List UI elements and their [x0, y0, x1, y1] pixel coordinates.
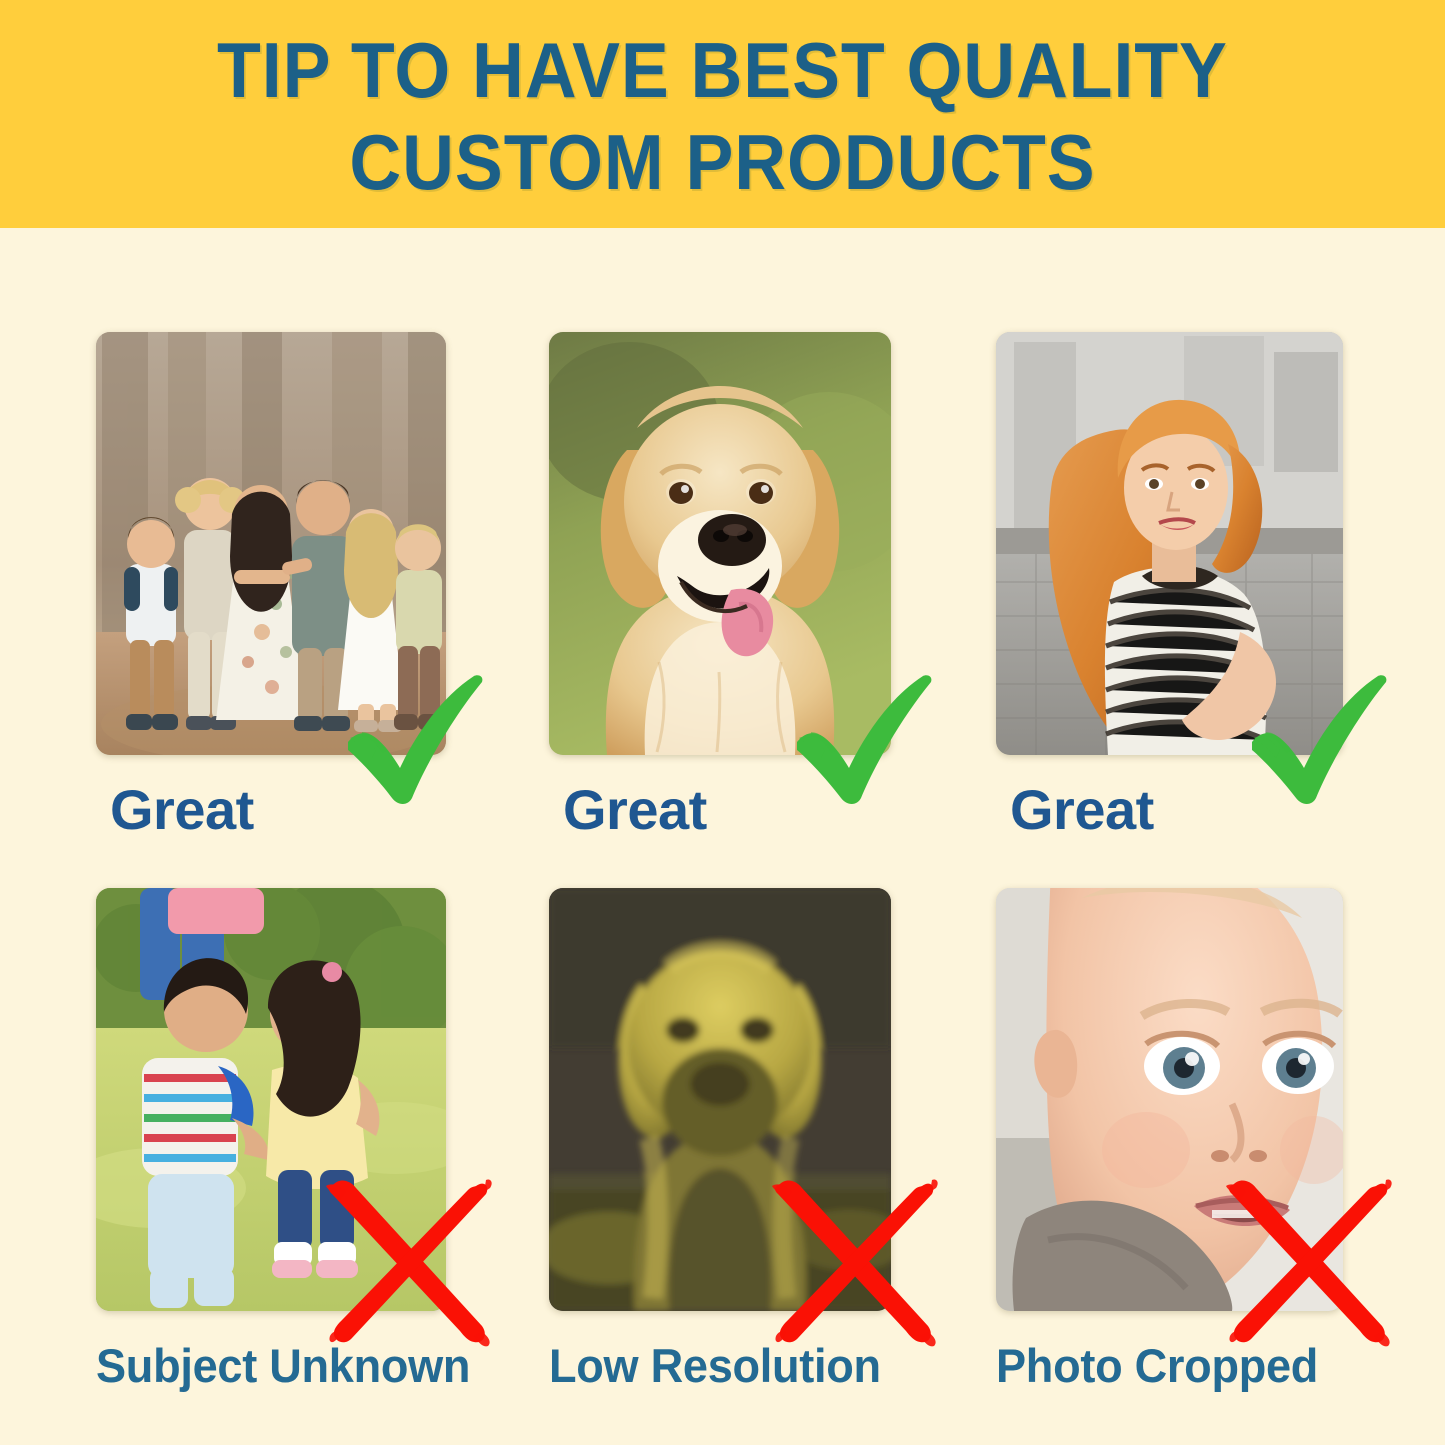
example-cell-children — [96, 888, 446, 1428]
golden-retriever-dog-photo — [549, 332, 891, 755]
young-woman-portrait-photo — [996, 332, 1343, 755]
example-cell-woman — [996, 332, 1343, 872]
example-cell-family — [96, 332, 446, 872]
examples-grid: Great Great Great — [0, 228, 1445, 1445]
example-cell-baby — [996, 888, 1343, 1428]
banner-title-line-2: CUSTOM PRODUCTS — [349, 116, 1095, 208]
example-cell-lowres-dog — [549, 888, 891, 1428]
banner-title-line-1: TIP TO HAVE BEST QUALITY — [217, 24, 1228, 116]
header-banner: TIP TO HAVE BEST QUALITY CUSTOM PRODUCTS — [0, 0, 1445, 228]
example-cell-dog — [549, 332, 891, 872]
children-playing-outdoors-photo — [96, 888, 446, 1311]
cropped-baby-face-photo — [996, 888, 1343, 1311]
low-resolution-dog-photo — [549, 888, 891, 1311]
family-group-portrait-photo — [96, 332, 446, 755]
